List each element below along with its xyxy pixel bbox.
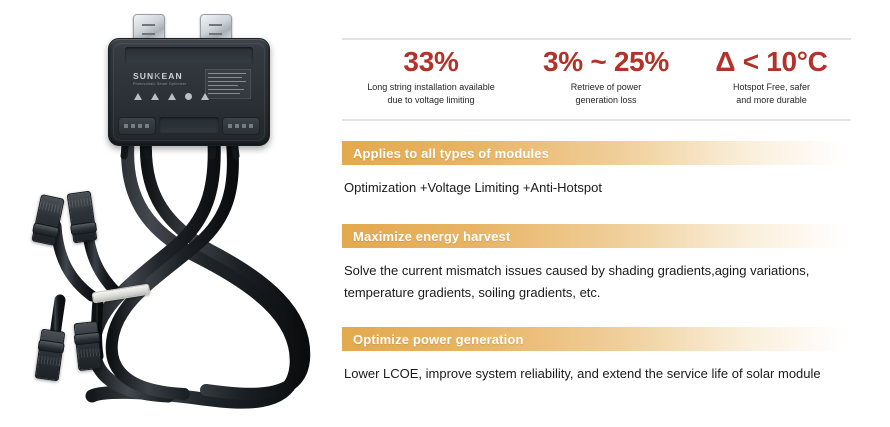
safety-icon-row xyxy=(134,93,209,100)
stat-item-power-retrieval: 3% ~ 25% Retrieve of power generation lo… xyxy=(520,40,692,106)
feature-section-power-generation: Optimize power generation Lower LCOE, im… xyxy=(342,327,890,385)
feature-content: 33% Long string installation available d… xyxy=(336,0,890,427)
enclosure-connector-pad-left xyxy=(118,117,156,135)
stat-caption: Hotspot Free, safer and more durable xyxy=(692,81,851,105)
section-body: Lower LCOE, improve system reliability, … xyxy=(342,351,890,385)
spec-table xyxy=(205,69,251,99)
feature-section-energy-harvest: Maximize energy harvest Solve the curren… xyxy=(342,224,890,305)
section-heading: Applies to all types of modules xyxy=(342,146,549,161)
enclosure-bottom-vent xyxy=(159,117,219,133)
section-heading: Optimize power generation xyxy=(342,332,524,347)
key-stats-strip: 33% Long string installation available d… xyxy=(342,38,851,121)
recycle-icon xyxy=(185,93,192,100)
hot-surface-icon xyxy=(168,93,176,100)
section-heading: Maximize energy harvest xyxy=(342,229,510,244)
enclosure-connector-pad-right xyxy=(222,117,260,135)
stat-caption: Retrieve of power generation loss xyxy=(520,81,692,105)
section-heading-bar: Optimize power generation xyxy=(342,327,844,351)
optimizer-enclosure: SUNKEAN Photovoltaic Smart Optimizer xyxy=(108,38,270,146)
section-heading-bar: Applies to all types of modules xyxy=(342,141,844,165)
section-heading-bar: Maximize energy harvest xyxy=(342,224,844,248)
feature-section-modules: Applies to all types of modules Optimiza… xyxy=(342,141,890,199)
stat-caption-line-1: Retrieve of power xyxy=(520,81,692,93)
warning-triangle-icon xyxy=(134,93,142,100)
section-body-line-2: temperature gradients, soiling gradients… xyxy=(344,282,890,304)
stat-value: 33% xyxy=(342,47,520,76)
stat-caption: Long string installation available due t… xyxy=(342,81,520,105)
section-body-line-1: Solve the current mismatch issues caused… xyxy=(344,260,890,282)
section-body: Optimization +Voltage Limiting +Anti-Hot… xyxy=(342,165,890,199)
electric-shock-icon xyxy=(151,93,159,100)
stat-caption-line-1: Hotspot Free, safer xyxy=(692,81,851,93)
product-label: SUNKEAN Photovoltaic Smart Optimizer xyxy=(125,69,253,113)
stat-caption-line-2: and more durable xyxy=(692,94,851,106)
caution-icon xyxy=(201,93,209,100)
stat-value: 3% ~ 25% xyxy=(520,47,692,76)
product-tagline: Photovoltaic Smart Optimizer xyxy=(133,82,187,86)
enclosure-top-vent xyxy=(125,47,253,64)
stat-caption-line-2: due to voltage limiting xyxy=(342,94,520,106)
brand-logo: SUNKEAN xyxy=(133,71,183,81)
stat-item-hotspot-free: Δ < 10°C Hotspot Free, safer and more du… xyxy=(692,40,851,106)
section-body-line-1: Lower LCOE, improve system reliability, … xyxy=(344,363,890,385)
product-photo: SUNKEAN Photovoltaic Smart Optimizer xyxy=(0,0,332,427)
stat-caption-line-2: generation loss xyxy=(520,94,692,106)
stat-value: Δ < 10°C xyxy=(692,47,851,76)
stat-caption-line-1: Long string installation available xyxy=(342,81,520,93)
mc4-connector-bottom-right xyxy=(74,321,103,371)
product-feature-page: SUNKEAN Photovoltaic Smart Optimizer xyxy=(0,0,890,427)
section-body: Solve the current mismatch issues caused… xyxy=(342,248,890,305)
section-body-line-1: Optimization +Voltage Limiting +Anti-Hot… xyxy=(344,177,890,199)
stat-item-voltage-limiting: 33% Long string installation available d… xyxy=(342,40,520,106)
